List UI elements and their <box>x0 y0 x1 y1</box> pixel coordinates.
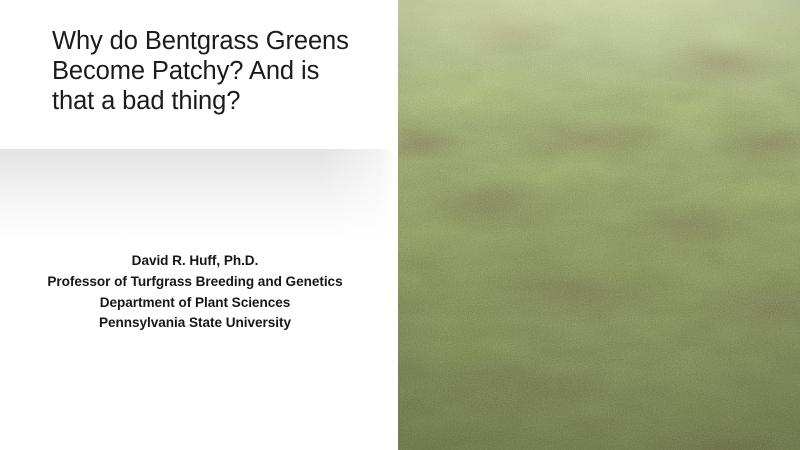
title-line-2: Become Patchy? And is <box>52 56 382 86</box>
presenter-department: Department of Plant Sciences <box>0 293 390 314</box>
presenter-credits: David R. Huff, Ph.D. Professor of Turfgr… <box>0 251 390 334</box>
presenter-role: Professor of Turfgrass Breeding and Gene… <box>0 272 390 293</box>
turf-vignette <box>398 0 800 450</box>
text-panel: Why do Bentgrass Greens Become Patchy? A… <box>0 0 398 450</box>
title-slide: Why do Bentgrass Greens Become Patchy? A… <box>0 0 800 450</box>
title-line-3: that a bad thing? <box>52 86 382 116</box>
presenter-institution: Pennsylvania State University <box>0 313 390 334</box>
title-line-1: Why do Bentgrass Greens <box>52 26 382 56</box>
gradient-band-fade <box>0 149 392 241</box>
turfgrass-photo <box>398 0 800 450</box>
page-title: Why do Bentgrass Greens Become Patchy? A… <box>52 26 382 116</box>
presenter-name: David R. Huff, Ph.D. <box>0 251 390 272</box>
